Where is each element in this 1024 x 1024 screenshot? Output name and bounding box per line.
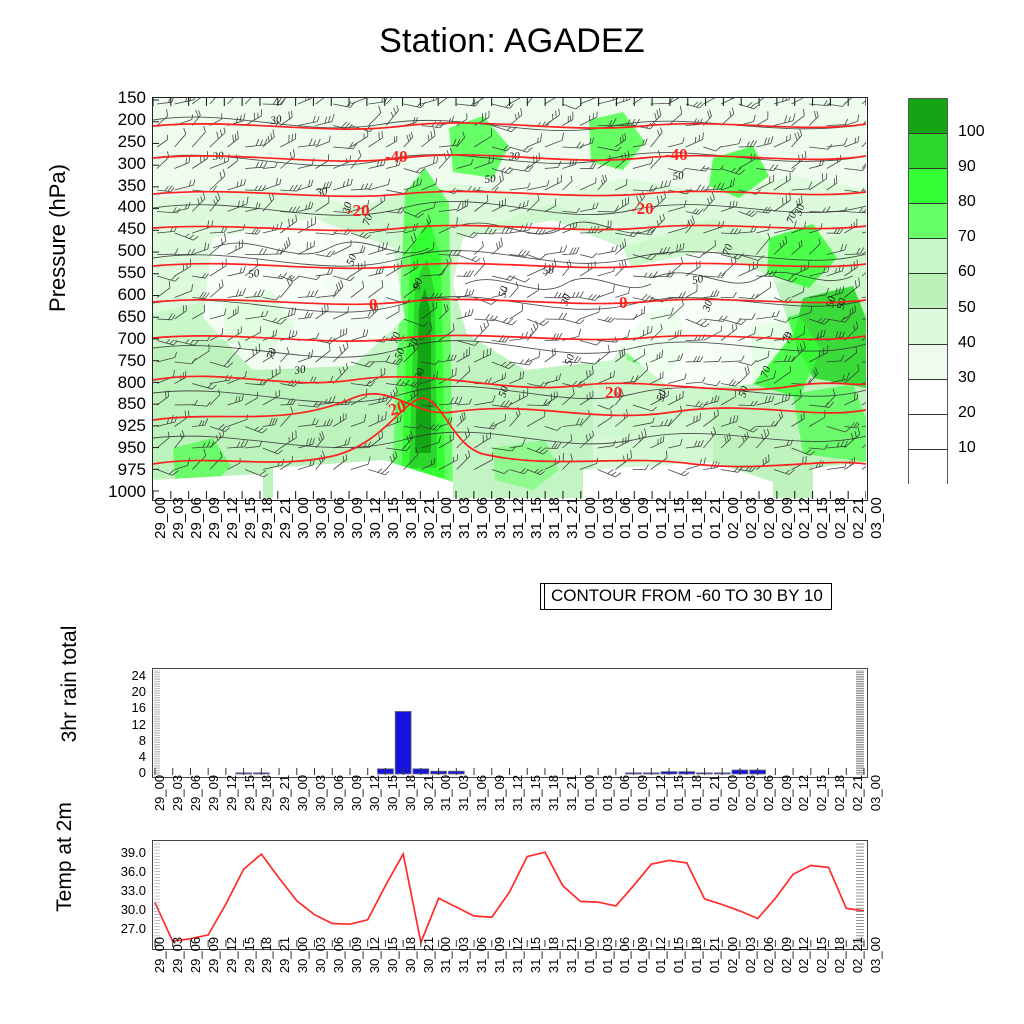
x-tick: 31_21 — [556, 955, 571, 1015]
x-tick: 30_12 — [359, 955, 374, 1015]
x-tick: 02_03 — [735, 955, 750, 1015]
colorbar-tick-label: 60 — [958, 263, 976, 281]
main-y-tick: 750 — [94, 352, 146, 369]
x-tick: 01_00 — [574, 955, 589, 1015]
x-tick: 02_18 — [825, 955, 840, 1015]
x-tick: 30_18 — [395, 518, 410, 578]
main-y-tick: 800 — [94, 374, 146, 391]
svg-text:0: 0 — [619, 293, 628, 312]
x-tick: 02_21 — [843, 518, 858, 578]
x-tick: 31_06 — [467, 518, 482, 578]
rain-y-tick: 4 — [92, 750, 146, 763]
rain-bar-chart — [152, 668, 868, 778]
x-tick: 01_21 — [699, 955, 714, 1015]
x-tick: 30_12 — [359, 518, 374, 578]
colorbar-tick-label: 40 — [958, 334, 976, 352]
colorbar-tick-label: 50 — [958, 299, 976, 317]
colorbar-cell — [909, 99, 947, 134]
x-tick-label: 03_00 — [868, 775, 883, 811]
x-tick: 01_09 — [628, 518, 643, 578]
rain-y-tick: 16 — [92, 701, 146, 714]
x-tick: 30_15 — [377, 518, 392, 578]
main-y-tick: 300 — [94, 155, 146, 172]
main-y-tick: 400 — [94, 198, 146, 215]
x-tick: 02_12 — [789, 955, 804, 1015]
x-tick: 02_09 — [771, 955, 786, 1015]
main-y-tick: 150 — [94, 89, 146, 106]
svg-text:-40: -40 — [385, 147, 408, 166]
x-tick: 29_06 — [180, 955, 195, 1015]
main-y-tick: 975 — [94, 461, 146, 478]
x-tick: 01_15 — [664, 518, 679, 578]
x-tick: 01_18 — [682, 518, 697, 578]
rain-plot-svg — [153, 669, 866, 776]
x-tick: 01_15 — [664, 955, 679, 1015]
x-tick: 01_06 — [610, 955, 625, 1015]
colorbar-tick-label: 30 — [958, 369, 976, 387]
x-tick: 02_03 — [735, 518, 750, 578]
rain-y-tick: 24 — [92, 669, 146, 682]
colorbar-cell — [909, 204, 947, 239]
temperature-line-chart — [152, 840, 868, 950]
x-tick: 29_21 — [270, 518, 285, 578]
main-y-tick: 250 — [94, 133, 146, 150]
rain-y-tick: 8 — [92, 734, 146, 747]
x-tick: 01_00 — [574, 518, 589, 578]
x-tick: 02_06 — [753, 955, 768, 1015]
x-tick: 01_12 — [646, 518, 661, 578]
x-tick: 03_00 — [861, 955, 876, 1015]
colorbar-cell — [909, 309, 947, 344]
x-tick: 29_00 — [145, 955, 160, 1015]
colorbar-cell — [909, 450, 947, 485]
main-y-tick: 350 — [94, 177, 146, 194]
time-height-cross-section: 30 30 30 30 30 30 30 30 30 50 50 50 50 5… — [152, 97, 868, 501]
colorbar-tick-label: 90 — [958, 158, 976, 176]
x-tick: 01_21 — [699, 518, 714, 578]
svg-text:50: 50 — [672, 170, 685, 183]
main-y-tick: 550 — [94, 264, 146, 281]
colorbar-cell — [909, 274, 947, 309]
colorbar-cell — [909, 415, 947, 450]
x-tick: 31_00 — [431, 955, 446, 1015]
x-tick: 31_03 — [449, 955, 464, 1015]
x-tick: 03_00 — [861, 518, 876, 578]
svg-text:-40: -40 — [665, 145, 688, 164]
x-tick: 30_06 — [324, 955, 339, 1015]
main-y-tick: 1000 — [94, 483, 146, 500]
x-tick: 29_12 — [216, 518, 231, 578]
rain-y-tick: 0 — [92, 766, 146, 779]
colorbar-tick-label: 70 — [958, 228, 976, 246]
x-tick: 02_18 — [825, 518, 840, 578]
x-tick: 01_09 — [628, 955, 643, 1015]
main-y-tick: 650 — [94, 308, 146, 325]
temp-x-tick-labels: 29_0029_0329_0629_0929_1229_1529_1829_21… — [152, 955, 868, 1015]
humidity-colorbar — [908, 98, 948, 484]
x-tick: 02_09 — [771, 518, 786, 578]
temp-y-tick: 30.0 — [84, 903, 146, 916]
rain-y-tick: 20 — [92, 685, 146, 698]
x-tick: 30_21 — [413, 955, 428, 1015]
temperature-line — [155, 852, 864, 942]
colorbar-cell — [909, 345, 947, 380]
svg-text:30: 30 — [269, 113, 283, 127]
svg-text:30: 30 — [293, 363, 307, 377]
x-tick: 31_03 — [449, 518, 464, 578]
x-tick: 29_15 — [234, 955, 249, 1015]
x-tick: 29_00 — [145, 518, 160, 578]
main-y-axis-title: Pressure (hPa) — [45, 118, 71, 358]
x-tick: 31_09 — [485, 955, 500, 1015]
x-tick: 31_15 — [520, 518, 535, 578]
x-tick: 02_00 — [717, 955, 732, 1015]
colorbar-cell — [909, 169, 947, 204]
colorbar-tick-label: 20 — [958, 404, 976, 422]
x-tick: 31_21 — [556, 518, 571, 578]
x-tick-label: 03_00 — [868, 497, 885, 539]
temp-y-tick: 36.0 — [84, 865, 146, 878]
x-tick: 01_12 — [646, 955, 661, 1015]
svg-text:20: 20 — [605, 383, 622, 402]
main-x-tick-labels: 29_0029_0329_0629_0929_1229_1529_1829_21… — [152, 518, 868, 580]
main-y-tick: 600 — [94, 286, 146, 303]
x-tick: 02_00 — [717, 518, 732, 578]
main-y-tick: 450 — [94, 220, 146, 237]
temp-y-axis-title: Temp at 2m — [53, 747, 77, 967]
main-y-tick: 950 — [94, 439, 146, 456]
x-tick: 31_00 — [431, 518, 446, 578]
x-tick: 02_15 — [807, 955, 822, 1015]
contour-note: CONTOUR FROM -60 TO 30 BY 10 — [540, 583, 832, 610]
x-tick: 01_03 — [592, 955, 607, 1015]
svg-text:-20: -20 — [347, 201, 370, 220]
temp-plot-svg — [153, 841, 866, 948]
x-tick: 29_21 — [270, 955, 285, 1015]
main-plot-svg: 30 30 30 30 30 30 30 30 30 50 50 50 50 5… — [153, 98, 866, 499]
colorbar-tick-label: 10 — [958, 439, 976, 457]
x-tick: 30_09 — [341, 518, 356, 578]
rain-bar — [395, 711, 411, 774]
main-y-tick: 850 — [94, 395, 146, 412]
x-tick: 29_03 — [162, 518, 177, 578]
x-tick: 30_03 — [306, 518, 321, 578]
svg-text:-20: -20 — [631, 199, 654, 218]
x-tick: 31_18 — [538, 955, 553, 1015]
colorbar-cell — [909, 380, 947, 415]
x-tick: 31_18 — [538, 518, 553, 578]
x-tick: 31_15 — [520, 955, 535, 1015]
x-tick: 31_09 — [485, 518, 500, 578]
colorbar-cell — [909, 239, 947, 274]
x-tick: 31_12 — [503, 955, 518, 1015]
x-tick: 02_06 — [753, 518, 768, 578]
x-tick: 30_06 — [324, 518, 339, 578]
x-tick: 29_18 — [252, 955, 267, 1015]
temp-y-tick: 39.0 — [84, 846, 146, 859]
main-y-tick: 500 — [94, 242, 146, 259]
colorbar-tick-label: 80 — [958, 193, 976, 211]
temp-y-tick: 33.0 — [84, 884, 146, 897]
main-y-tick-labels: 1502002503003504004505005506006507007508… — [90, 97, 146, 501]
x-tick: 31_12 — [503, 518, 518, 578]
x-tick: 30_03 — [306, 955, 321, 1015]
figure-root: Station: AGADEZ Pressure (hPa) 150200250… — [0, 0, 1024, 1024]
colorbar-tick-label: 100 — [958, 123, 985, 141]
x-tick: 01_06 — [610, 518, 625, 578]
x-tick: 30_18 — [395, 955, 410, 1015]
x-tick: 01_18 — [682, 955, 697, 1015]
x-tick: 30_00 — [288, 518, 303, 578]
x-tick: 29_09 — [198, 518, 213, 578]
page-title: Station: AGADEZ — [0, 22, 1024, 61]
x-tick: 02_21 — [843, 955, 858, 1015]
x-tick: 29_03 — [162, 955, 177, 1015]
svg-text:50: 50 — [484, 173, 497, 186]
x-tick: 30_15 — [377, 955, 392, 1015]
rain-y-tick-labels: 04812162024 — [92, 668, 146, 778]
x-tick: 29_06 — [180, 518, 195, 578]
x-tick: 02_12 — [789, 518, 804, 578]
main-y-tick: 700 — [94, 330, 146, 347]
x-tick: 29_09 — [198, 955, 213, 1015]
main-y-tick: 200 — [94, 111, 146, 128]
colorbar-cell — [909, 134, 947, 169]
x-tick: 30_21 — [413, 518, 428, 578]
x-tick: 29_18 — [252, 518, 267, 578]
svg-text:0: 0 — [369, 295, 378, 314]
x-tick: 31_06 — [467, 955, 482, 1015]
temp-y-tick-labels: 27.030.033.036.039.0 — [84, 840, 146, 950]
x-tick: 01_03 — [592, 518, 607, 578]
main-y-tick: 925 — [94, 417, 146, 434]
x-tick-label: 03_00 — [868, 937, 883, 973]
rain-y-tick: 12 — [92, 718, 146, 731]
x-tick: 29_12 — [216, 955, 231, 1015]
x-tick: 30_09 — [341, 955, 356, 1015]
x-tick: 02_15 — [807, 518, 822, 578]
x-tick: 30_00 — [288, 955, 303, 1015]
x-tick: 29_15 — [234, 518, 249, 578]
temp-y-tick: 27.0 — [84, 922, 146, 935]
